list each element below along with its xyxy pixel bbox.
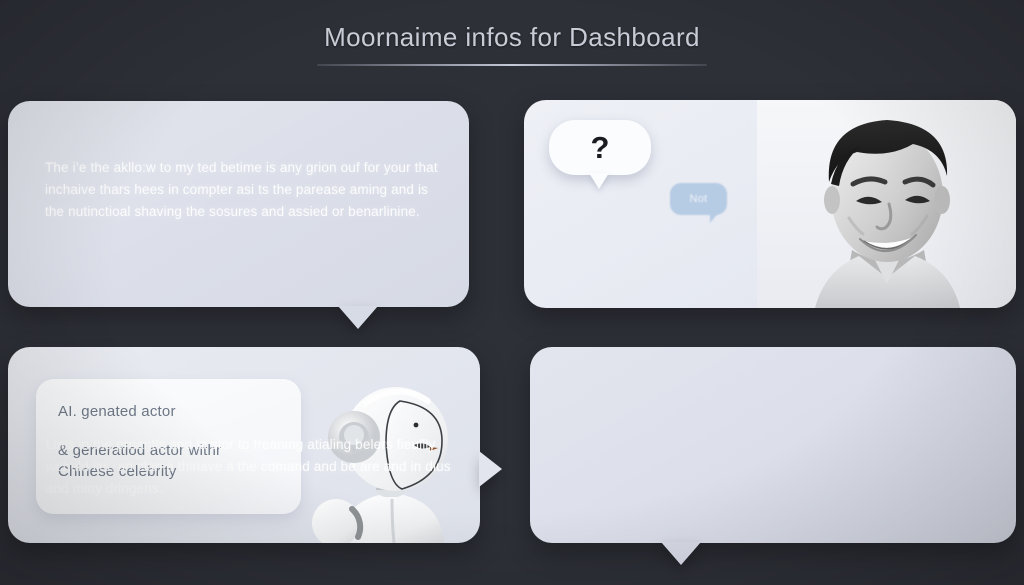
not-me-headline: I- Not Me.: [46, 381, 154, 409]
question-mark-icon: ?: [591, 132, 610, 163]
reply-bubble-tail: [710, 212, 719, 223]
not-me-body-text: Linls in the prnantls and la stor to fre…: [46, 434, 458, 500]
not-me-speech-bubble[interactable]: [530, 347, 1016, 543]
title-divider: [317, 64, 707, 66]
bubble-tail: [479, 451, 502, 487]
reply-bubble-label: Not: [689, 193, 707, 205]
reply-bubble[interactable]: Not: [670, 183, 727, 215]
dashboard-stage: Moornaime infos for Dashboard The i’e th…: [0, 0, 1024, 585]
bubble-tail: [661, 542, 701, 565]
bubble-tail: [338, 306, 378, 329]
intro-bubble-text: The i’e the akllo:w to my ted betime is …: [45, 157, 445, 223]
question-bubble-tail: [589, 173, 609, 189]
portrait-photo: [757, 100, 1016, 308]
question-bubble[interactable]: ?: [549, 120, 651, 175]
page-title: Moornaime infos for Dashboard: [0, 22, 1024, 53]
bubble-surface: [530, 347, 1016, 543]
page-header: Moornaime infos for Dashboard: [0, 22, 1024, 66]
